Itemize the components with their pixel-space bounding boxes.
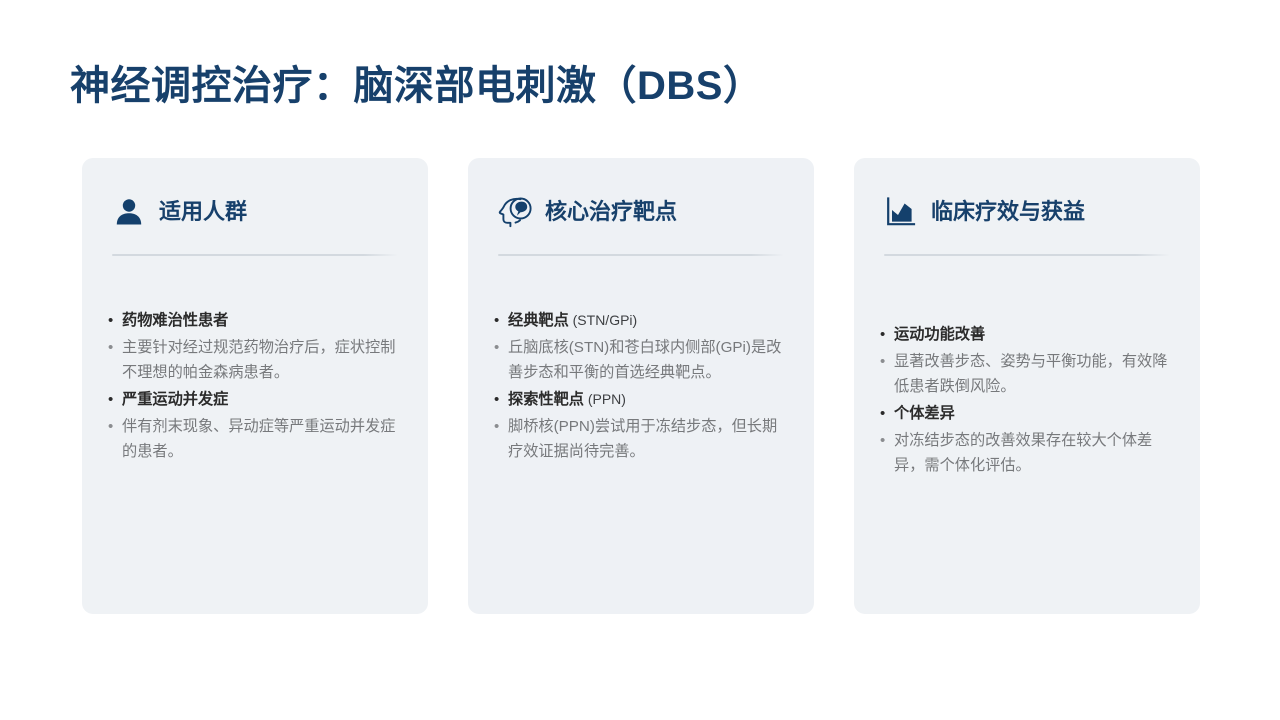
list-item: • 严重运动并发症	[108, 387, 406, 412]
list-item-text: 脚桥核(PPN)尝试用于冻结步态，但长期疗效证据尚待完善。	[508, 414, 792, 464]
list-item: • 伴有剂末现象、异动症等严重运动并发症的患者。	[108, 414, 406, 464]
list-item: • 经典靶点 (STN/GPi)	[494, 308, 792, 333]
card-body: • 药物难治性患者 • 主要针对经过规范药物治疗后，症状控制不理想的帕金森病患者…	[108, 308, 406, 464]
card-body: • 运动功能改善 • 显著改善步态、姿势与平衡功能，有效降低患者跌倒风险。 • …	[880, 322, 1178, 478]
card-title: 核心治疗靶点	[545, 201, 677, 223]
bullet-marker: •	[880, 428, 894, 453]
bullet-marker: •	[108, 387, 122, 412]
card-divider	[498, 254, 784, 256]
list-item: • 个体差异	[880, 401, 1178, 426]
list-item-text: 经典靶点 (STN/GPi)	[508, 308, 637, 333]
bullet-marker: •	[880, 322, 894, 347]
bullet-marker: •	[494, 308, 508, 333]
list-item: • 药物难治性患者	[108, 308, 406, 333]
list-item: • 探索性靶点 (PPN)	[494, 387, 792, 412]
card-title: 适用人群	[159, 201, 247, 223]
card-divider	[884, 254, 1170, 256]
area-chart-icon	[884, 195, 918, 229]
bullet-marker: •	[108, 335, 122, 360]
card-core-targets: 核心治疗靶点 • 经典靶点 (STN/GPi) • 丘脑底核(STN)和苍白球内…	[468, 158, 814, 614]
bullet-marker: •	[494, 335, 508, 360]
person-icon	[112, 195, 146, 229]
card-body: • 经典靶点 (STN/GPi) • 丘脑底核(STN)和苍白球内侧部(GPi)…	[494, 308, 792, 464]
list-item-text: 伴有剂末现象、异动症等严重运动并发症的患者。	[122, 414, 406, 464]
page-title: 神经调控治疗：脑深部电刺激（DBS）	[70, 53, 763, 111]
bullet-marker: •	[880, 349, 894, 374]
list-item: • 脚桥核(PPN)尝试用于冻结步态，但长期疗效证据尚待完善。	[494, 414, 792, 464]
card-title: 临床疗效与获益	[931, 201, 1085, 223]
list-item: • 显著改善步态、姿势与平衡功能，有效降低患者跌倒风险。	[880, 349, 1178, 399]
bullet-marker: •	[880, 401, 894, 426]
bullet-marker: •	[494, 414, 508, 439]
list-item-text: 药物难治性患者	[122, 308, 228, 333]
list-item-text: 个体差异	[894, 401, 955, 426]
list-item-text: 探索性靶点 (PPN)	[508, 387, 626, 412]
list-item-text: 显著改善步态、姿势与平衡功能，有效降低患者跌倒风险。	[894, 349, 1178, 399]
card-header: 临床疗效与获益	[854, 192, 1200, 232]
card-clinical-benefit: 临床疗效与获益 • 运动功能改善 • 显著改善步态、姿势与平衡功能，有效降低患者…	[854, 158, 1200, 614]
list-item: • 运动功能改善	[880, 322, 1178, 347]
list-item-suffix: (PPN)	[584, 391, 626, 407]
bullet-marker: •	[108, 414, 122, 439]
list-item-text: 对冻结步态的改善效果存在较大个体差异，需个体化评估。	[894, 428, 1178, 478]
list-item-text: 主要针对经过规范药物治疗后，症状控制不理想的帕金森病患者。	[122, 335, 406, 385]
list-item: • 丘脑底核(STN)和苍白球内侧部(GPi)是改善步态和平衡的首选经典靶点。	[494, 335, 792, 385]
cards-row: 适用人群 • 药物难治性患者 • 主要针对经过规范药物治疗后，症状控制不理想的帕…	[82, 158, 1200, 614]
list-item: • 对冻结步态的改善效果存在较大个体差异，需个体化评估。	[880, 428, 1178, 478]
list-item-text: 丘脑底核(STN)和苍白球内侧部(GPi)是改善步态和平衡的首选经典靶点。	[508, 335, 792, 385]
list-item-text: 运动功能改善	[894, 322, 985, 347]
card-header: 核心治疗靶点	[468, 192, 814, 232]
list-item-suffix: (STN/GPi)	[569, 312, 637, 328]
card-divider	[112, 254, 398, 256]
list-item: • 主要针对经过规范药物治疗后，症状控制不理想的帕金森病患者。	[108, 335, 406, 385]
bullet-marker: •	[108, 308, 122, 333]
card-header: 适用人群	[82, 192, 428, 232]
card-target-population: 适用人群 • 药物难治性患者 • 主要针对经过规范药物治疗后，症状控制不理想的帕…	[82, 158, 428, 614]
list-item-text: 严重运动并发症	[122, 387, 228, 412]
brain-head-icon	[498, 195, 532, 229]
bullet-marker: •	[494, 387, 508, 412]
